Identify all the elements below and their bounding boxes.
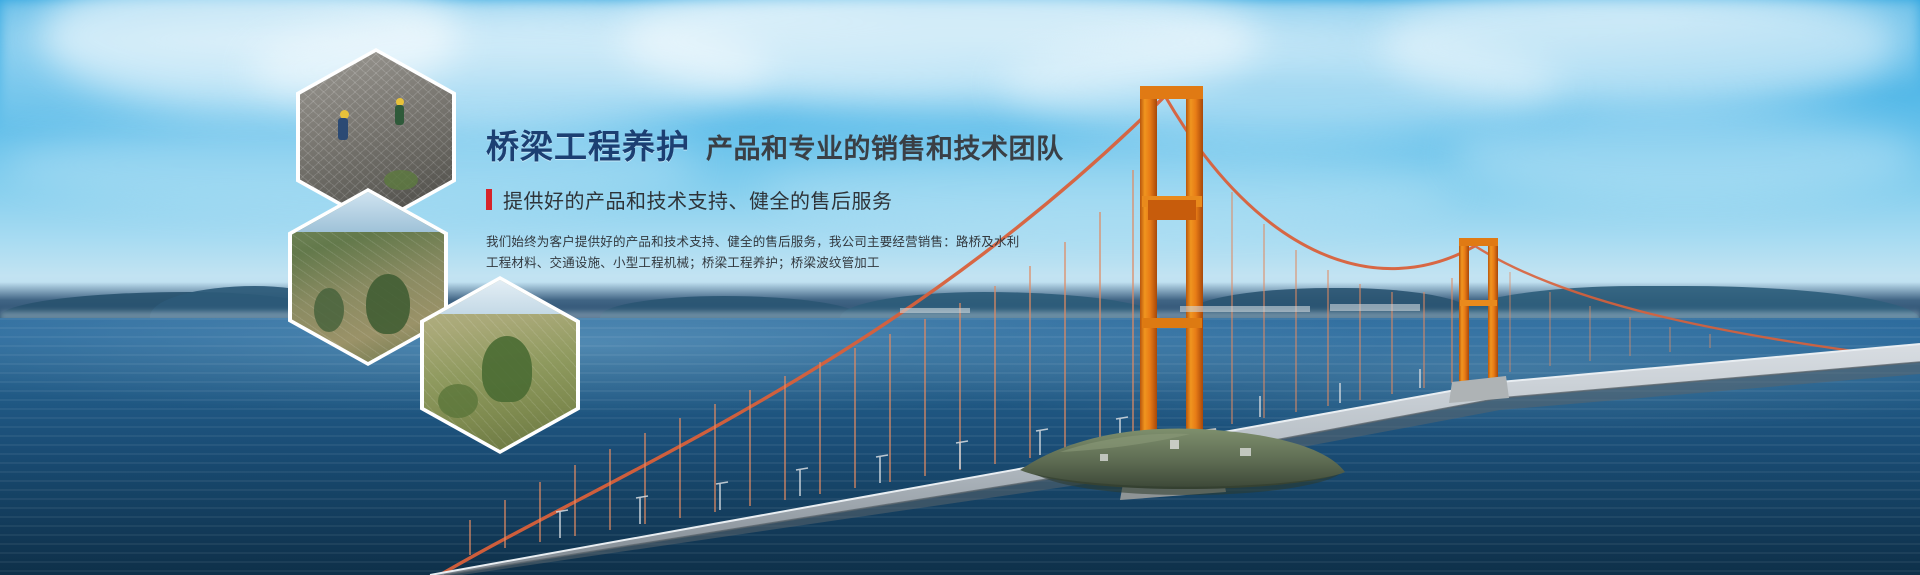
accent-bar <box>486 189 492 210</box>
vegetation-patch <box>384 170 418 190</box>
headline-main: 桥梁工程养护 <box>486 120 690 168</box>
body-line-1: 我们始终为客户提供好的产品和技术支持、健全的售后服务，我公司主要经营销售：路桥及… <box>486 231 886 252</box>
banner-copy: 桥梁工程养护 产品和专业的销售和技术团队 提供好的产品和技术支持、健全的售后服务… <box>486 120 1046 273</box>
tree-shape <box>366 274 410 334</box>
worker-figure <box>395 105 404 125</box>
headline-secondary: 产品和专业的销售和技术团队 <box>706 127 1064 166</box>
subtitle-text: 提供好的产品和技术支持、健全的售后服务 <box>503 185 893 214</box>
tree-shape <box>314 288 344 332</box>
body-paragraph: 我们始终为客户提供好的产品和技术支持、健全的售后服务，我公司主要经营销售：路桥及… <box>486 231 886 273</box>
tree-shape <box>482 336 532 402</box>
hero-banner: 桥梁工程养护 产品和专业的销售和技术团队 提供好的产品和技术支持、健全的售后服务… <box>0 0 1920 575</box>
bush-shape <box>438 384 478 418</box>
body-line-2: 工程材料、交通设施、小型工程机械；桥梁工程养护；桥梁波纹管加工 <box>486 252 886 273</box>
subtitle-row: 提供好的产品和技术支持、健全的售后服务 <box>486 185 1046 214</box>
bridge-tower-secondary <box>1449 238 1509 403</box>
worker-figure <box>338 118 348 140</box>
headline-row: 桥梁工程养护 产品和专业的销售和技术团队 <box>486 120 1046 168</box>
